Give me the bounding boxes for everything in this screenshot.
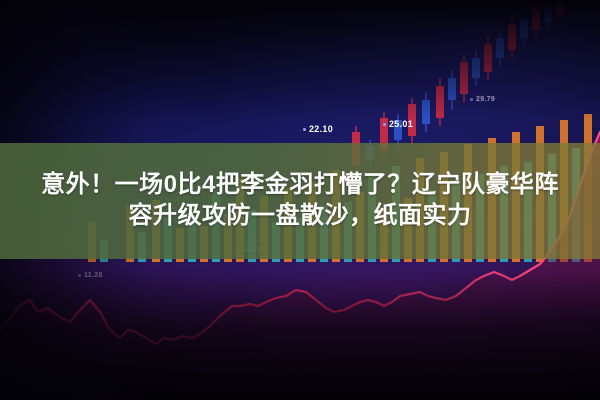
annotation-dot-icon <box>78 274 81 277</box>
headline-overlay-band: 意外！一场0比4把李金羽打懵了？辽宁队豪华阵 容升级攻防一盘散沙，纸面实力 <box>0 143 600 259</box>
headline-line-2: 容升级攻防一盘散沙，纸面实力 <box>129 202 472 231</box>
thumbnail-image: 11.2818.0718.7522.1025.0129.79 意外！一场0比4把… <box>0 0 600 400</box>
price-annotation: 25.01 <box>383 119 413 129</box>
price-annotation: 29.79 <box>470 96 495 103</box>
headline-line-1: 意外！一场0比4把李金羽打懵了？辽宁队豪华阵 <box>41 171 559 200</box>
annotation-dot-icon <box>383 123 386 126</box>
annotation-value: 29.79 <box>476 96 495 103</box>
price-annotation: 11.28 <box>78 272 103 279</box>
price-annotation: 22.10 <box>303 124 333 134</box>
annotation-dot-icon <box>470 98 473 101</box>
annotation-value: 22.10 <box>309 124 333 134</box>
annotation-value: 25.01 <box>389 119 413 129</box>
annotation-dot-icon <box>303 128 306 131</box>
annotation-value: 11.28 <box>84 272 103 279</box>
